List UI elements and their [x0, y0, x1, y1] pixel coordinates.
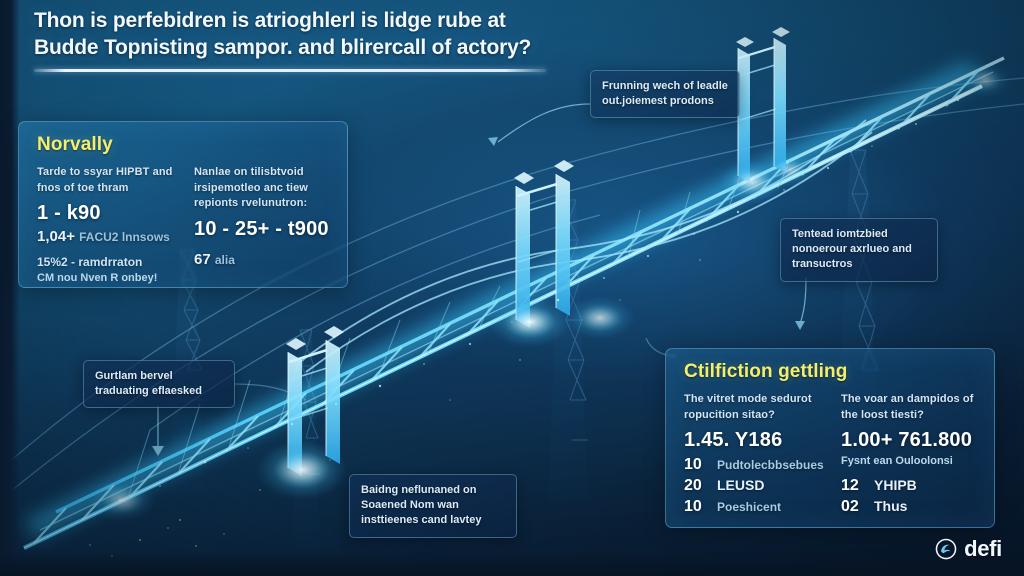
right-col1-row1-number: 20 [684, 477, 708, 495]
stats-panel-right: Ctilfiction gettling The vitret mode sed… [665, 348, 995, 528]
list-item: 10 Pudtolecbbsebues [684, 456, 823, 474]
right-col2-description: The voar an dampidos of the loost tiesti… [841, 392, 980, 423]
list-item: 10 Poeshicent [684, 498, 823, 516]
headline-block: Thon is perfebidren is atrioghlerl is li… [34, 8, 594, 72]
left-col2-subvalue: 67 alia [194, 251, 333, 268]
stats-panel-right-column-1: The vitret mode sedurot ropucition sitao… [684, 392, 823, 516]
callout-left-anchor: Gurtlam bervel traduating eflaesked [83, 360, 235, 408]
stats-panel-left-column-1: Tarde to ssyar HIPBT and fnos of toe thr… [37, 165, 176, 284]
left-col2-subvalue-number: 67 [194, 251, 211, 268]
right-col1-value: 1.45. Y186 [684, 429, 823, 452]
right-col1-row2-number: 10 [684, 498, 708, 516]
left-col2-description: Nanlae on tilisbtvoid irsipemotleo anc t… [194, 165, 333, 212]
headline-line-2: Budde Topnisting sampor. and blirercall … [34, 35, 594, 62]
right-col1-row0-number: 10 [684, 456, 708, 474]
right-col2-value: 1.00+ 761.800 [841, 429, 980, 452]
left-col2-value: 10 - 25+ - t900 [194, 218, 333, 241]
left-col1-value: 1 - k90 [37, 202, 176, 225]
stats-panel-left-title: Norvally [37, 134, 333, 156]
swirl-circle-icon [935, 538, 957, 560]
list-item: 02 Thus [841, 498, 980, 516]
bottom-edge-shade [0, 550, 1024, 576]
left-col1-note-secondary: CM nou Nven R onbey! [37, 272, 176, 284]
left-col1-subvalue: 1,04+ FACU2 lnnsows [37, 228, 176, 245]
list-item: 12 YHIPB [841, 477, 980, 495]
stats-panel-left-column-2: Nanlae on tilisbtvoid irsipemotleo anc t… [194, 165, 333, 284]
left-col1-subvalue-label: FACU2 lnnsows [79, 230, 170, 244]
left-col1-description: Tarde to ssyar HIPBT and fnos of toe thr… [37, 165, 176, 196]
stats-panel-left: Norvally Tarde to ssyar HIPBT and fnos o… [18, 121, 348, 288]
right-col2-row1-label: Thus [874, 498, 907, 514]
callout-top-deck: Frunning wech of leadle out.joiemest pro… [590, 70, 740, 118]
right-col1-row2-label: Poeshicent [717, 500, 781, 514]
callout-bottom-deck: Baidng neflunaned on Soaened Nom wan ins… [349, 474, 517, 538]
infographic-canvas: Thon is perfebidren is atrioghlerl is li… [0, 0, 1024, 576]
stats-panel-right-column-2: The voar an dampidos of the loost tiesti… [841, 392, 980, 516]
right-col2-row0-number: 12 [841, 477, 865, 495]
list-item: 20 LEUSD [684, 477, 823, 495]
stats-panel-right-title: Ctilfiction gettling [684, 361, 980, 383]
right-col2-row0-label: YHIPB [874, 477, 917, 493]
right-col1-rows: 10 Pudtolecbbsebues 20 LEUSD 10 Poeshice… [684, 456, 823, 516]
callout-right-tower: Tentead iomtzbied nonoerour axrlueo and … [780, 218, 938, 282]
right-col2-rows: 12 YHIPB 02 Thus [841, 477, 980, 516]
right-col2-row1-number: 02 [841, 498, 865, 516]
headline-underline [34, 69, 546, 72]
headline-line-1: Thon is perfebidren is atrioghlerl is li… [34, 8, 594, 35]
left-col1-note: 15%2 - ramdrraton [37, 254, 176, 271]
left-edge-shade [0, 0, 20, 576]
right-col1-row0-label: Pudtolecbbsebues [717, 458, 824, 472]
right-col2-subnote: Fysnt ean Ouloolonsi [841, 455, 980, 467]
right-col1-description: The vitret mode sedurot ropucition sitao… [684, 392, 823, 423]
brand-logo-text: defi [964, 536, 1002, 562]
brand-logo: defi [935, 536, 1002, 562]
left-col1-subvalue-number: 1,04+ [37, 228, 75, 245]
left-col2-subvalue-label: alia [215, 253, 235, 267]
right-col1-row1-label: LEUSD [717, 477, 764, 493]
